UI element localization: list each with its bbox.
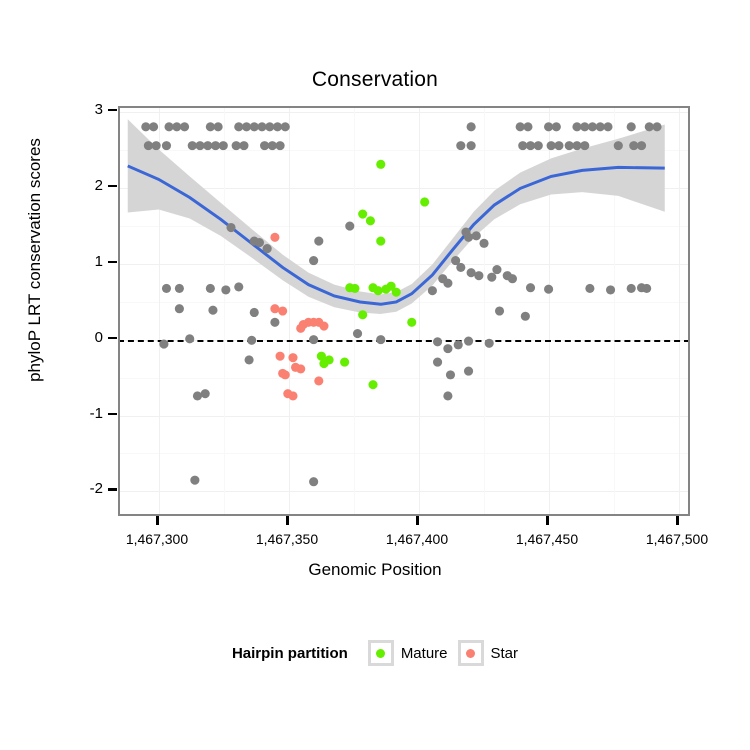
- data-point: [534, 141, 543, 150]
- data-point: [467, 122, 476, 131]
- data-point: [201, 389, 210, 398]
- data-point: [580, 141, 589, 150]
- data-point: [479, 239, 488, 248]
- data-point: [350, 284, 359, 293]
- data-point: [250, 308, 259, 317]
- y-tick-mark: [108, 413, 117, 416]
- legend-label-mature: Mature: [401, 645, 448, 662]
- data-point: [263, 244, 272, 253]
- legend-key-star: [458, 640, 484, 666]
- plot-panel: [118, 106, 690, 516]
- y-tick-mark: [108, 109, 117, 112]
- data-point: [443, 344, 452, 353]
- data-point: [175, 304, 184, 313]
- data-point: [340, 358, 349, 367]
- data-point: [366, 216, 375, 225]
- data-point: [193, 391, 202, 400]
- data-point: [472, 231, 481, 240]
- data-point: [239, 141, 248, 150]
- data-point: [523, 122, 532, 131]
- legend-key-mature: [368, 640, 394, 666]
- data-point: [296, 364, 305, 373]
- data-point: [464, 337, 473, 346]
- data-point: [492, 265, 501, 274]
- y-tick-label: 2: [70, 178, 103, 193]
- data-point: [487, 273, 496, 282]
- data-point: [270, 233, 279, 242]
- legend-title: Hairpin partition: [232, 645, 348, 662]
- data-point: [521, 312, 530, 321]
- x-tick-label: 1,467,500: [617, 531, 737, 547]
- data-point: [585, 284, 594, 293]
- data-point: [627, 122, 636, 131]
- data-point: [281, 370, 290, 379]
- y-tick-label: -2: [70, 481, 103, 496]
- data-point: [454, 340, 463, 349]
- y-tick-label: 0: [70, 330, 103, 345]
- data-point: [407, 318, 416, 327]
- x-tick-mark: [156, 516, 159, 525]
- data-point: [175, 284, 184, 293]
- x-tick-mark: [546, 516, 549, 525]
- data-point: [376, 160, 385, 169]
- data-point: [433, 337, 442, 346]
- data-point: [420, 197, 429, 206]
- data-point: [392, 288, 401, 297]
- data-point: [149, 122, 158, 131]
- data-point: [456, 263, 465, 272]
- data-point: [185, 334, 194, 343]
- y-axis-title: phyloP LRT conservation scores: [25, 80, 45, 440]
- data-point: [221, 285, 230, 294]
- data-point: [226, 223, 235, 232]
- data-point: [319, 321, 328, 330]
- data-point: [255, 238, 264, 247]
- legend-item-mature[interactable]: Mature: [368, 640, 448, 666]
- y-tick-mark: [108, 488, 117, 491]
- scatter-points: [120, 108, 688, 514]
- data-point: [214, 122, 223, 131]
- x-tick-label: 1,467,400: [357, 531, 477, 547]
- y-tick-mark: [108, 261, 117, 264]
- legend: Hairpin partition Mature Star: [0, 640, 750, 666]
- data-point: [374, 286, 383, 295]
- data-point: [376, 237, 385, 246]
- data-point: [314, 237, 323, 246]
- data-point: [234, 282, 243, 291]
- data-point: [508, 274, 517, 283]
- data-point: [180, 122, 189, 131]
- data-point: [544, 285, 553, 294]
- data-point: [652, 122, 661, 131]
- data-point: [288, 391, 297, 400]
- data-point: [162, 141, 171, 150]
- x-tick-label: 1,467,350: [227, 531, 347, 547]
- data-point: [190, 476, 199, 485]
- data-point: [485, 339, 494, 348]
- data-point: [270, 304, 279, 313]
- data-point: [526, 283, 535, 292]
- data-point: [614, 141, 623, 150]
- x-tick-mark: [676, 516, 679, 525]
- data-point: [474, 271, 483, 280]
- data-point: [281, 122, 290, 131]
- data-point: [428, 286, 437, 295]
- data-point: [345, 221, 354, 230]
- data-point: [296, 324, 305, 333]
- x-tick-mark: [286, 516, 289, 525]
- data-point: [309, 256, 318, 265]
- data-point: [464, 367, 473, 376]
- data-point: [368, 380, 377, 389]
- data-point: [288, 353, 297, 362]
- data-point: [637, 141, 646, 150]
- data-point: [245, 355, 254, 364]
- chart-figure: Conservation -2-10123 1,467,3001,467,350…: [0, 0, 750, 750]
- legend-dot-star: [466, 649, 475, 658]
- y-tick-mark: [108, 337, 117, 340]
- data-point: [270, 318, 279, 327]
- data-point: [314, 376, 323, 385]
- data-point: [276, 141, 285, 150]
- data-point: [276, 352, 285, 361]
- data-point: [627, 284, 636, 293]
- data-point: [309, 477, 318, 486]
- data-point: [353, 329, 362, 338]
- y-tick-label: 1: [70, 254, 103, 269]
- data-point: [464, 233, 473, 242]
- data-point: [358, 210, 367, 219]
- data-point: [552, 122, 561, 131]
- data-point: [152, 141, 161, 150]
- y-tick-label: 3: [70, 102, 103, 117]
- x-axis-title: Genomic Position: [0, 560, 750, 580]
- data-point: [467, 141, 476, 150]
- x-tick-label: 1,467,450: [487, 531, 607, 547]
- y-tick-label: -1: [70, 406, 103, 421]
- data-point: [208, 306, 217, 315]
- legend-dot-mature: [376, 649, 385, 658]
- data-point: [309, 335, 318, 344]
- data-point: [219, 141, 228, 150]
- data-point: [603, 122, 612, 131]
- legend-item-star[interactable]: Star: [458, 640, 519, 666]
- data-point: [443, 391, 452, 400]
- data-point: [376, 335, 385, 344]
- y-tick-mark: [108, 185, 117, 188]
- legend-label-star: Star: [491, 645, 519, 662]
- chart-title: Conservation: [0, 68, 750, 92]
- data-point: [495, 306, 504, 315]
- data-point: [554, 141, 563, 150]
- data-point: [443, 279, 452, 288]
- data-point: [319, 359, 328, 368]
- data-point: [606, 285, 615, 294]
- data-point: [456, 141, 465, 150]
- data-point: [358, 310, 367, 319]
- data-point: [642, 284, 651, 293]
- x-tick-mark: [416, 516, 419, 525]
- data-point: [162, 284, 171, 293]
- data-point: [247, 336, 256, 345]
- data-point: [278, 306, 287, 315]
- data-point: [159, 340, 168, 349]
- x-tick-label: 1,467,300: [97, 531, 217, 547]
- data-point: [433, 358, 442, 367]
- data-point: [206, 284, 215, 293]
- data-point: [446, 370, 455, 379]
